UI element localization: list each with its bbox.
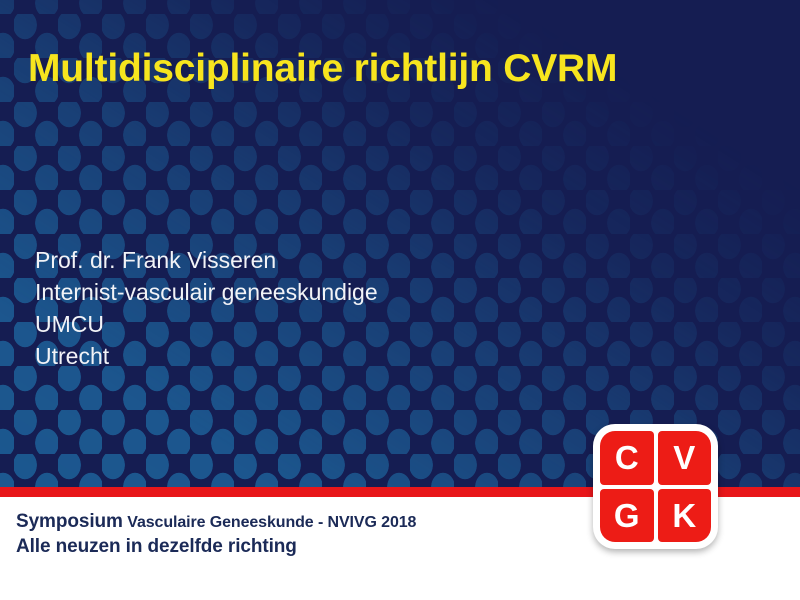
cvgk-logo: C V G K [593,424,718,549]
page-title: Multidisciplinaire richtlijn CVRM [28,46,758,92]
author-name: Prof. dr. Frank Visseren [35,244,555,276]
presentation-slide: Multidisciplinaire richtlijn CVRM Prof. … [0,0,800,600]
footer-event-label: Symposium [16,511,123,532]
footer-event-line: Symposium Vasculaire Geneeskunde - NVIVG… [16,511,416,533]
author-city: Utrecht [35,340,555,372]
logo-letter-g: G [600,489,654,543]
footer-tagline: Alle neuzen in dezelfde richting [16,536,297,558]
logo-letter-v: V [658,431,712,485]
logo-letter-k: K [658,489,712,543]
author-institution: UMCU [35,308,555,340]
footer-event-name: Vasculaire Geneeskunde - NVIVG 2018 [127,514,416,531]
author-role: Internist-vasculair geneeskundige [35,276,555,308]
author-details: Prof. dr. Frank Visseren Internist-vascu… [35,244,555,372]
logo-letter-c: C [600,431,654,485]
slide-content-area: Multidisciplinaire richtlijn CVRM Prof. … [0,0,800,487]
